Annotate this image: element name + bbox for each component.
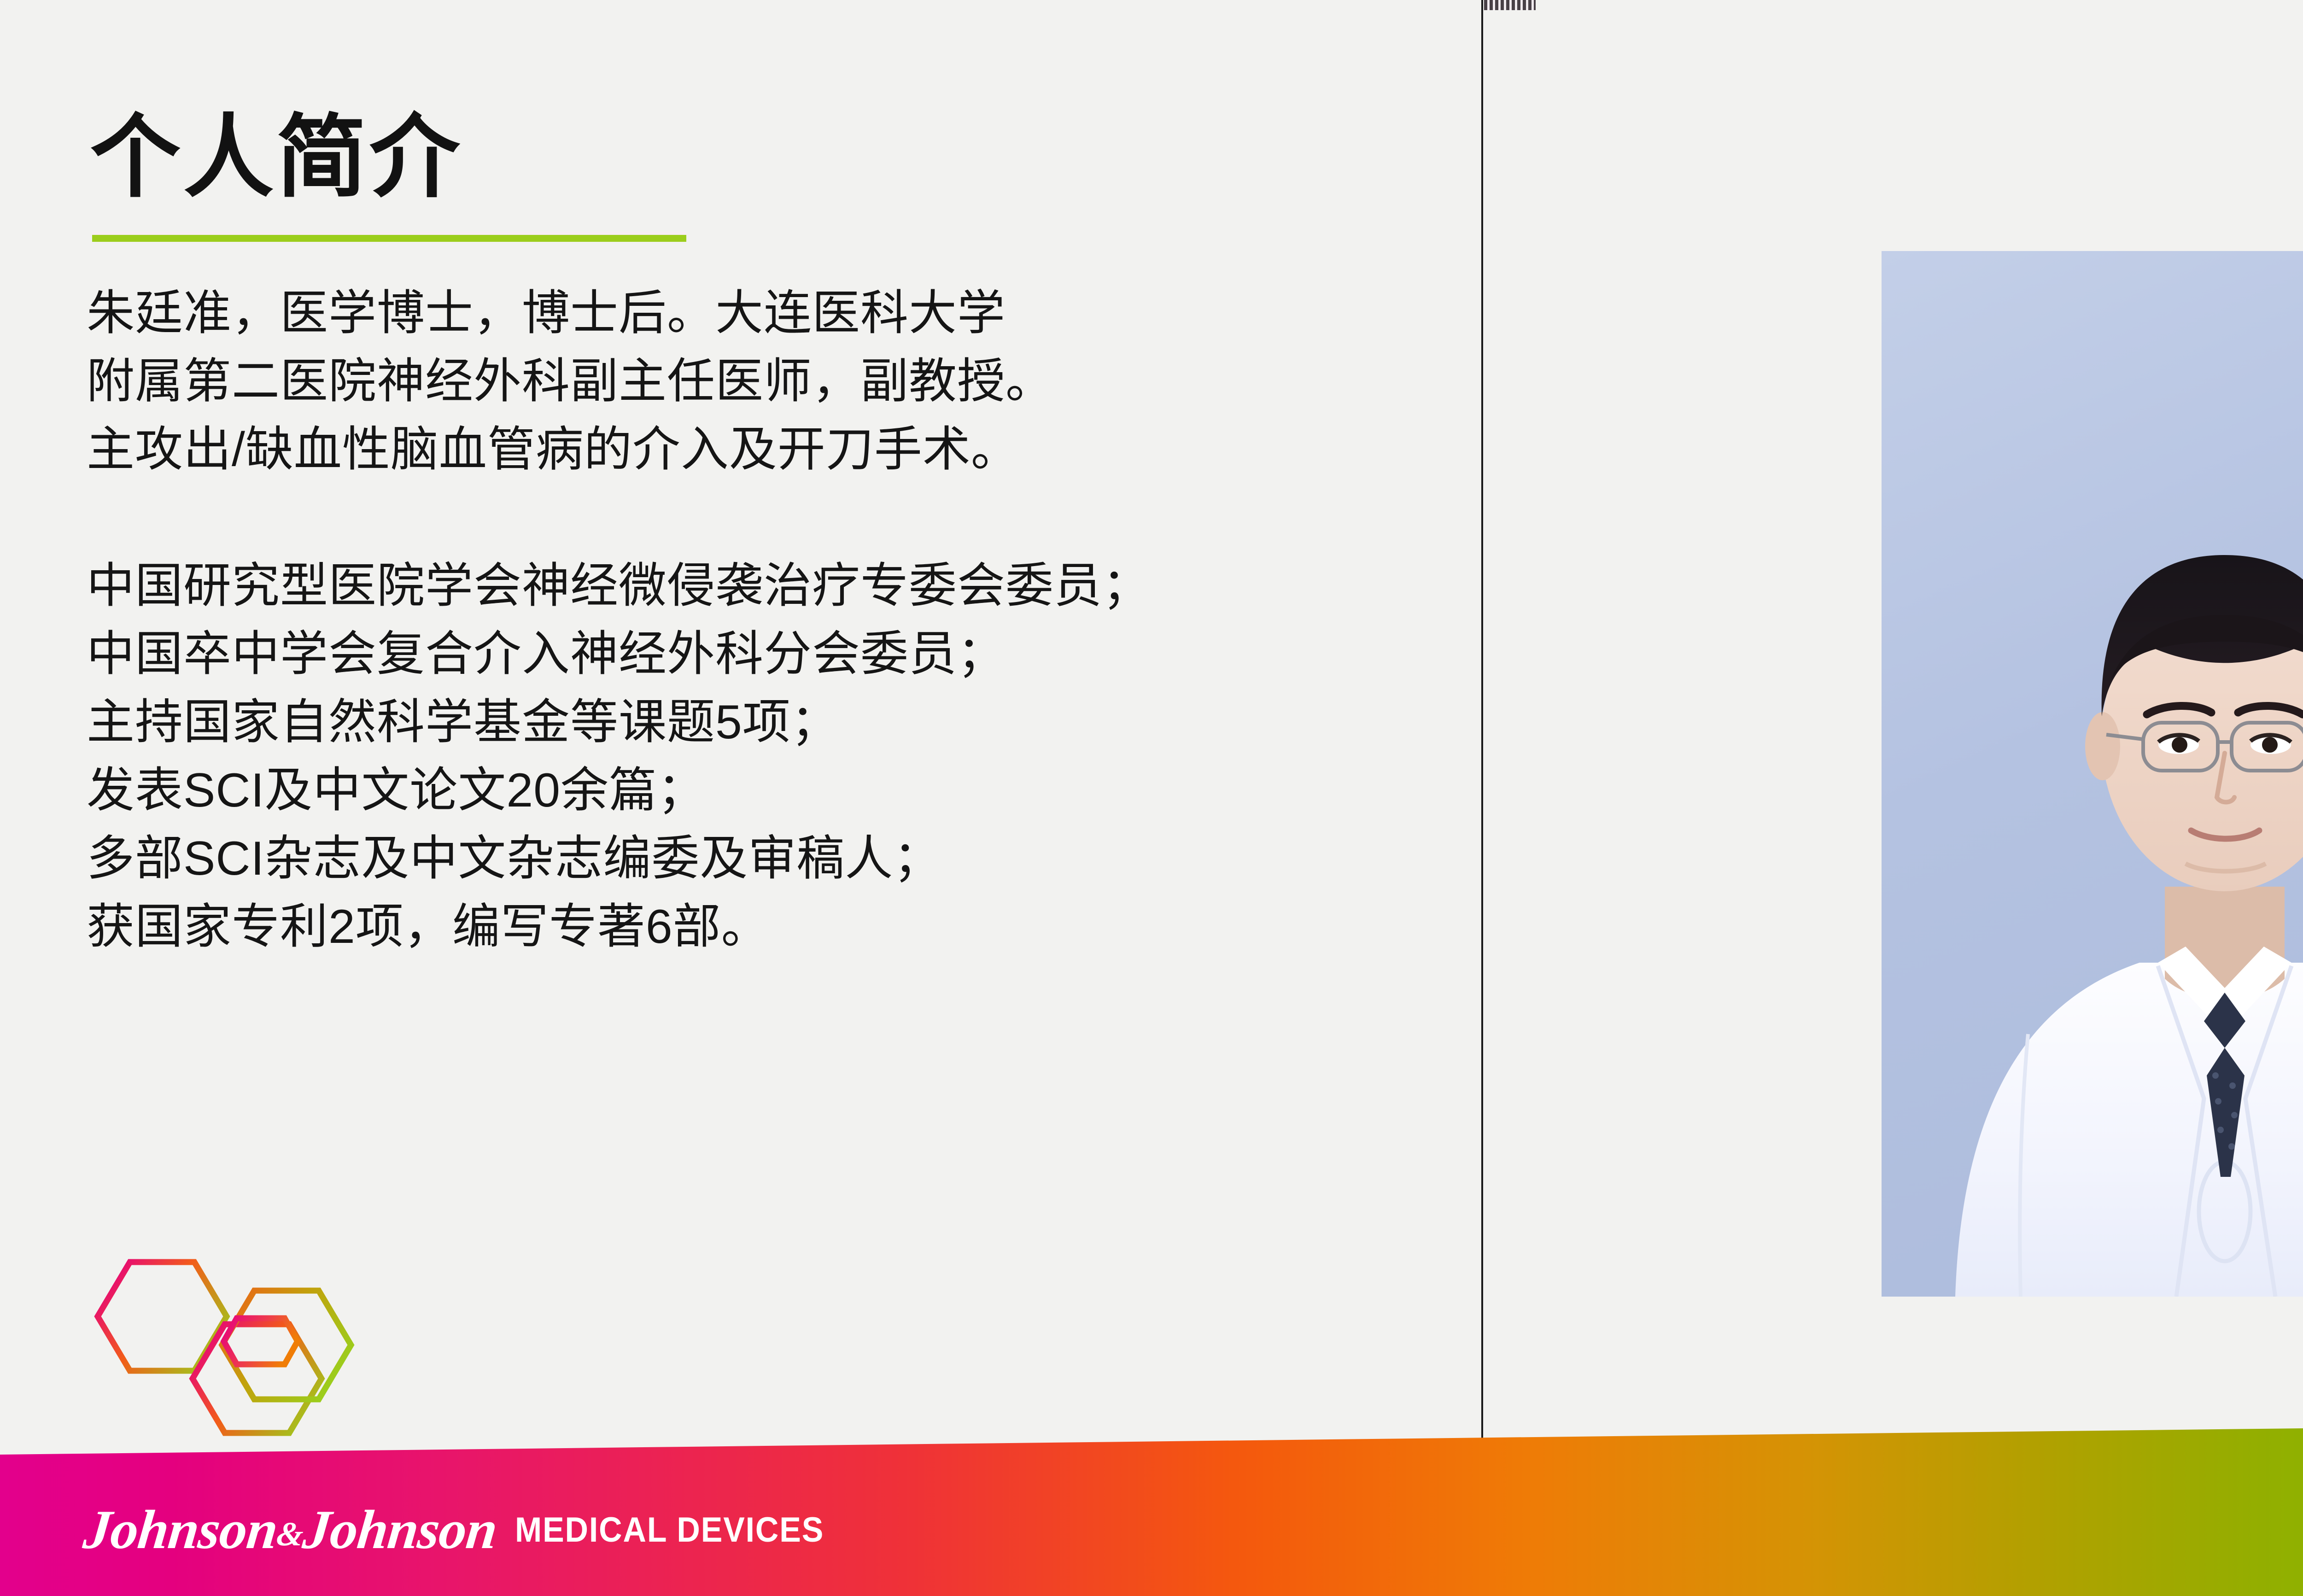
vertical-divider	[1481, 0, 1483, 1467]
bio-line: 朱廷准，医学博士，博士后。大连医科大学	[87, 279, 1459, 347]
top-edge-artifact	[1484, 0, 1536, 10]
jnj-wordmark: Johnson&Johnson	[81, 1498, 500, 1561]
bio-line: 中国卒中学会复合介入神经外科分会委员；	[87, 620, 1459, 688]
bio-line: 附属第二医院神经外科副主任医师，副教授。	[87, 347, 1459, 415]
jnj-sub-label: MEDICAL DEVICES	[515, 1510, 824, 1550]
bio-line: 发表SCI及中文论文20余篇；	[87, 756, 1459, 824]
bio-line: 获国家专利2项，编写专著6部。	[87, 893, 1459, 961]
bio-line: 主攻出/缺血性脑血管病的介入及开刀手术。	[87, 415, 1459, 484]
biography-text: 朱廷准，医学博士，博士后。大连医科大学 附属第二医院神经外科副主任医师，副教授。…	[87, 279, 1459, 961]
hexagon-decoration	[82, 1239, 404, 1469]
title-underline-pale	[92, 232, 686, 235]
slide-canvas: 个人简介 朱廷准，医学博士，博士后。大连医科大学 附属第二医院神经外科副主任医师…	[0, 0, 2303, 1596]
title-underline-accent	[92, 235, 686, 242]
bio-line: 多部SCI杂志及中文杂志编委及审稿人；	[87, 824, 1459, 893]
bio-line: 中国研究型医院学会神经微侵袭治疗专委会委员；	[87, 552, 1459, 620]
page-title: 个人简介	[90, 112, 462, 203]
portrait-photo	[1882, 251, 2303, 1297]
paragraph-spacer	[87, 484, 1459, 552]
johnson-johnson-logo: Johnson&Johnson MEDICAL DEVICES	[84, 1499, 851, 1560]
bio-line: 主持国家自然科学基金等课题5项；	[87, 688, 1459, 756]
